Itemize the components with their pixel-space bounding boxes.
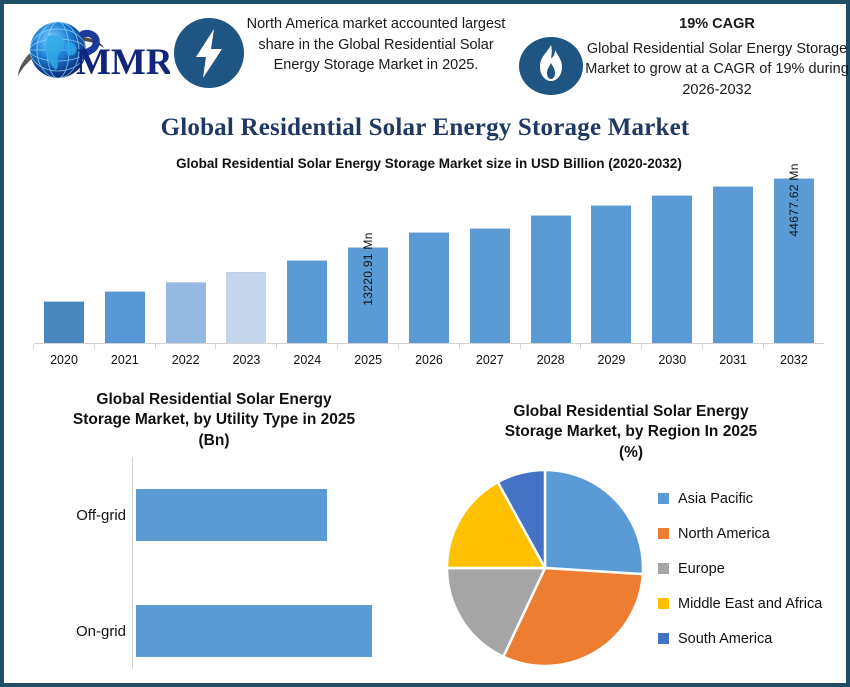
bar-2024 [287, 260, 327, 344]
bar-cell: 44677.62 Mn [764, 179, 824, 344]
page-title: Global Residential Solar Energy Storage … [4, 114, 846, 142]
bar-cell [521, 179, 581, 344]
legend-swatch-icon [658, 493, 669, 504]
x-label-2021: 2021 [95, 353, 155, 367]
bar-chart-title: Global Residential Solar Energy Storage … [4, 156, 850, 171]
mmr-logo: MMR [10, 12, 170, 96]
lightning-bolt-badge [172, 16, 246, 90]
x-label-2025: 2025 [338, 353, 398, 367]
x-label-2026: 2026 [399, 353, 459, 367]
region-title-line-1: Global Residential Solar Energy [422, 402, 840, 422]
x-tick [277, 344, 337, 349]
legend-label: Asia Pacific [678, 491, 753, 507]
utility-title-line-2: Storage Market, by Utility Type in 2025 [20, 410, 408, 430]
x-label-2027: 2027 [460, 353, 520, 367]
north-america-stat: North America market accounted largest s… [240, 14, 512, 76]
bar-cell [277, 179, 337, 344]
lightning-bolt-icon [172, 16, 246, 90]
utility-label-off-grid: Off-grid [14, 507, 136, 524]
bar-cell [642, 179, 702, 344]
legend-swatch-icon [658, 598, 669, 609]
x-label-2029: 2029 [581, 353, 641, 367]
bar-cell [95, 179, 155, 344]
flame-badge [519, 36, 583, 96]
bar-cell [399, 179, 459, 344]
x-tick [338, 344, 398, 349]
legend-item-north-america: North America [658, 516, 848, 551]
utility-plot-area: Off-grid On-grid [14, 457, 414, 669]
bar-2029 [591, 205, 631, 344]
x-label-2032: 2032 [764, 353, 824, 367]
bar-2022 [166, 282, 206, 344]
bar-value-label-2025: 13220.91 Mn [361, 232, 375, 305]
bar-cell [34, 179, 94, 344]
x-label-2030: 2030 [642, 353, 702, 367]
x-tick [95, 344, 155, 349]
x-axis-labels: 2020202120222023202420252026202720282029… [34, 353, 824, 367]
legend-item-middle-east-and-africa: Middle East and Africa [658, 586, 848, 621]
utility-row-on-grid: On-grid [14, 605, 414, 657]
legend-item-asia-pacific: Asia Pacific [658, 481, 848, 516]
bar-2028 [531, 215, 571, 344]
utility-title-line-1: Global Residential Solar Energy [20, 390, 408, 410]
bar-cell [581, 179, 641, 344]
bar-2020 [44, 301, 84, 344]
legend-item-south-america: South America [658, 621, 848, 656]
x-tick [703, 344, 763, 349]
bar-series: 13220.91 Mn44677.62 Mn [34, 179, 824, 344]
x-label-2024: 2024 [277, 353, 337, 367]
header: MMR North America market accounted large… [4, 4, 846, 114]
bar-2026 [409, 232, 449, 344]
x-label-2020: 2020 [34, 353, 94, 367]
utility-type-chart: Global Residential Solar Energy Storage … [14, 390, 414, 680]
bar-cell: 13220.91 Mn [338, 179, 398, 344]
utility-bar-on-grid [136, 605, 372, 657]
utility-row-off-grid: Off-grid [14, 489, 414, 541]
x-tick [216, 344, 276, 349]
bar-2031 [713, 186, 753, 344]
bar-2027 [470, 228, 510, 344]
market-size-bar-chart: Global Residential Solar Energy Storage … [4, 152, 850, 374]
pie-slice-asia-pacific [545, 470, 643, 574]
x-label-2022: 2022 [156, 353, 216, 367]
legend-label: Middle East and Africa [678, 596, 822, 612]
x-label-2023: 2023 [216, 353, 276, 367]
region-title-line-3: (%) [422, 443, 840, 463]
region-chart-title: Global Residential Solar Energy Storage … [416, 402, 846, 463]
bar-cell [156, 179, 216, 344]
legend-swatch-icon [658, 528, 669, 539]
x-label-2031: 2031 [703, 353, 763, 367]
bar-2032: 44677.62 Mn [774, 178, 814, 344]
bar-cell [460, 179, 520, 344]
bar-2030 [652, 195, 692, 344]
utility-bar-off-grid [136, 489, 327, 541]
legend-item-europe: Europe [658, 551, 848, 586]
cagr-headline: 19% CAGR [584, 14, 850, 35]
utility-label-on-grid: On-grid [14, 623, 136, 640]
x-label-2028: 2028 [521, 353, 581, 367]
region-title-line-2: Storage Market, by Region In 2025 [422, 422, 840, 442]
x-tick [521, 344, 581, 349]
legend-label: South America [678, 631, 772, 647]
pie-row: Asia PacificNorth AmericaEuropeMiddle Ea… [416, 465, 846, 677]
flame-icon [519, 36, 583, 96]
utility-chart-title: Global Residential Solar Energy Storage … [14, 390, 414, 451]
x-tick [399, 344, 459, 349]
legend-swatch-icon [658, 633, 669, 644]
x-tick [764, 344, 824, 349]
x-tick [581, 344, 641, 349]
x-tick [34, 344, 94, 349]
bar-cell [216, 179, 276, 344]
bar-cell [703, 179, 763, 344]
x-axis-ticks [34, 344, 824, 349]
legend-label: Europe [678, 561, 725, 577]
infographic-frame: MMR North America market accounted large… [0, 0, 850, 687]
x-tick [460, 344, 520, 349]
bar-plot-area: 13220.91 Mn44677.62 Mn [34, 179, 824, 344]
cagr-stat: 19% CAGR Global Residential Solar Energy… [584, 14, 850, 100]
bar-value-label-2032: 44677.62 Mn [787, 163, 801, 236]
bar-2023 [226, 272, 266, 344]
legend-swatch-icon [658, 563, 669, 574]
bar-2021 [105, 291, 145, 344]
region-pie-chart: Global Residential Solar Energy Storage … [416, 402, 846, 684]
bar-2025: 13220.91 Mn [348, 247, 388, 344]
utility-title-line-3: (Bn) [20, 431, 408, 451]
svg-text:MMR: MMR [76, 42, 170, 83]
x-tick [156, 344, 216, 349]
globe-icon: MMR [10, 12, 170, 96]
pie-svg [444, 467, 646, 669]
legend-label: North America [678, 526, 770, 542]
pie-legend: Asia PacificNorth AmericaEuropeMiddle Ea… [658, 481, 848, 656]
pie-graphic [444, 467, 646, 669]
cagr-detail: Global Residential Solar Energy Storage … [585, 41, 849, 98]
x-tick [642, 344, 702, 349]
